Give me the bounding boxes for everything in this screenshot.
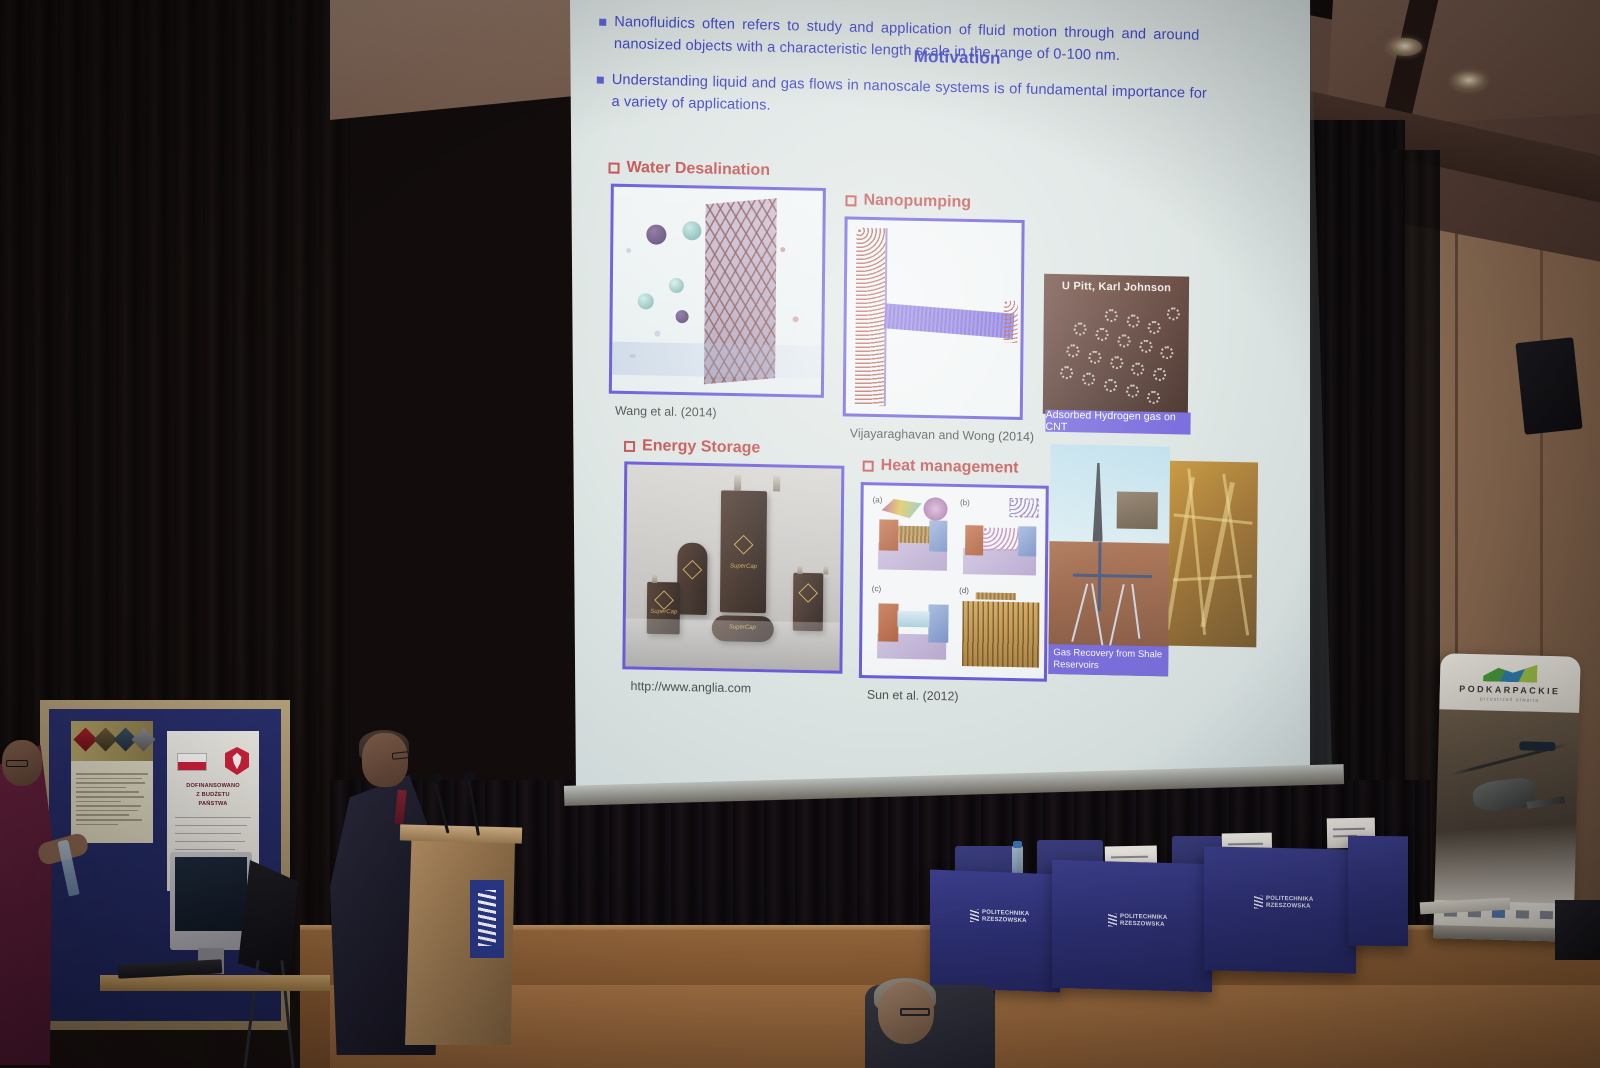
funding-heading-line-3: PAŃSTWA bbox=[167, 801, 259, 807]
water-droplet bbox=[654, 330, 660, 336]
poster-body-text bbox=[76, 773, 148, 828]
screen-surface: Motivation Nanofluidics often refers to … bbox=[520, 0, 1310, 810]
banner-badge bbox=[1519, 741, 1555, 751]
section-label: Heat management bbox=[881, 457, 1019, 478]
auditorium-scene: Motivation Nanofluidics often refers to … bbox=[0, 0, 1600, 1068]
ion-particle bbox=[638, 293, 654, 309]
banner-tagline: przestrzeń otwarta bbox=[1439, 695, 1579, 705]
banner-header: PODKARPACKIE przestrzeń otwarta bbox=[1439, 653, 1580, 713]
panel-label-c: (c) bbox=[872, 584, 881, 593]
figure-caption: http://www.anglia.com bbox=[630, 679, 751, 695]
glasses-icon bbox=[6, 760, 28, 767]
funding-heading-line-1: DOFINANSOWANO bbox=[167, 783, 259, 789]
ion-particle bbox=[647, 224, 667, 244]
figure-caption: Sun et al. (2012) bbox=[867, 688, 959, 704]
figure-cnt-hydrogen: U Pitt, Karl Johnson bbox=[1043, 274, 1189, 417]
ion-particle bbox=[682, 221, 701, 240]
ejected-particles bbox=[1003, 300, 1017, 343]
bullet-text: Nanofluidics often refers to study and a… bbox=[614, 12, 1200, 69]
section-heading-heat-management: Heat management bbox=[863, 457, 1019, 478]
fluid-reservoir-art bbox=[854, 227, 887, 406]
water-stream bbox=[612, 342, 821, 379]
panel-label-b: (b) bbox=[960, 498, 970, 507]
panel-table: POLITECHNIKA RZESZOWSKA bbox=[930, 870, 1060, 993]
ion-particle bbox=[675, 310, 688, 323]
podkarpackie-logo-icon bbox=[1483, 663, 1537, 682]
loudspeaker bbox=[1555, 900, 1600, 960]
bottle-cap-icon bbox=[1013, 841, 1022, 848]
bullet-square-icon bbox=[599, 19, 606, 26]
figure-credit: U Pitt, Karl Johnson bbox=[1044, 280, 1189, 295]
figure-heat-management: (a) (b) (c) bbox=[859, 482, 1049, 682]
presenter-head bbox=[362, 733, 408, 787]
panel-table bbox=[1348, 836, 1408, 947]
downlight-icon bbox=[1452, 72, 1486, 90]
glasses-icon bbox=[900, 1008, 930, 1016]
section-heading-energy-storage: Energy Storage bbox=[624, 437, 760, 458]
supercapacitor bbox=[677, 542, 708, 615]
poster-header-band bbox=[71, 721, 153, 761]
figure-caption: Wang et al. (2014) bbox=[615, 404, 717, 420]
funding-heading-line-2: Z BUDŻETU bbox=[167, 792, 259, 798]
checkbox-square-icon bbox=[845, 195, 856, 206]
figure-rock-cores bbox=[1168, 461, 1258, 648]
figure-overlay-caption: Adsorbed Hydrogen gas on CNT bbox=[1045, 410, 1190, 435]
figure-water-desalination bbox=[609, 184, 826, 398]
slide-bullet-2: Understanding liquid and gas flows in na… bbox=[596, 70, 1207, 128]
section-heading-nanopumping: Nanopumping bbox=[845, 191, 971, 212]
water-droplet bbox=[626, 248, 631, 253]
section-label: Energy Storage bbox=[642, 437, 760, 457]
av-preview-monitor bbox=[170, 852, 252, 950]
bullet-square-icon bbox=[597, 77, 604, 84]
figure-energy-storage: SuperCap SuperCap bbox=[622, 461, 844, 673]
university-logo-icon bbox=[1108, 913, 1117, 926]
water-droplet bbox=[792, 317, 798, 323]
loudspeaker bbox=[1515, 337, 1582, 435]
university-logo-icon bbox=[1254, 896, 1263, 909]
panel-table: POLITECHNIKA RZESZOWSKA bbox=[1204, 846, 1356, 973]
supercapacitor: SuperCap bbox=[720, 491, 767, 614]
figure-nanopumping bbox=[843, 216, 1025, 420]
lectern-top-surface bbox=[400, 824, 522, 843]
water-droplet bbox=[780, 247, 785, 252]
section-heading-water-desalination: Water Desalination bbox=[608, 158, 770, 180]
reflection-surface bbox=[625, 618, 840, 671]
figure-overlay-caption: Gas Recovery from Shale Reservoirs bbox=[1048, 644, 1168, 676]
section-label: Water Desalination bbox=[626, 159, 770, 180]
panel-label-a: (a) bbox=[873, 495, 883, 504]
figure-shale-gas: Gas Recovery from Shale Reservoirs bbox=[1048, 444, 1170, 676]
section-label: Nanopumping bbox=[863, 192, 971, 212]
table-logo-text: POLITECHNIKA RZESZOWSKA bbox=[982, 910, 1029, 925]
panel-label-d: (d) bbox=[959, 586, 969, 595]
presentation-slide: Motivation Nanofluidics often refers to … bbox=[582, 0, 1343, 782]
projection-screen: Motivation Nanofluidics often refers to … bbox=[520, 0, 1360, 820]
ion-particle bbox=[669, 278, 684, 293]
monitor-screen bbox=[175, 857, 247, 931]
checkbox-square-icon bbox=[863, 460, 874, 471]
university-logo-icon bbox=[478, 890, 496, 946]
table-logo-text: POLITECHNIKA RZESZOWSKA bbox=[1266, 896, 1313, 910]
panel-table: POLITECHNIKA RZESZOWSKA bbox=[1052, 860, 1212, 992]
carbon-nanotube-channel bbox=[884, 304, 1014, 340]
polish-flag-icon bbox=[177, 753, 207, 771]
bullet-text: Understanding liquid and gas flows in na… bbox=[611, 70, 1207, 127]
attendee-left-body bbox=[0, 745, 52, 1065]
checkbox-square-icon bbox=[624, 440, 635, 451]
university-logo-icon bbox=[970, 909, 979, 922]
downlight-icon bbox=[1388, 38, 1422, 56]
checkbox-square-icon bbox=[608, 162, 619, 173]
table-logo-text: POLITECHNIKA RZESZOWSKA bbox=[1120, 914, 1167, 929]
poster-event bbox=[71, 721, 153, 843]
figure-caption: Vijayaraghavan and Wong (2014) bbox=[850, 426, 1034, 444]
slide-bullet-1: Nanofluidics often refers to study and a… bbox=[599, 12, 1200, 69]
